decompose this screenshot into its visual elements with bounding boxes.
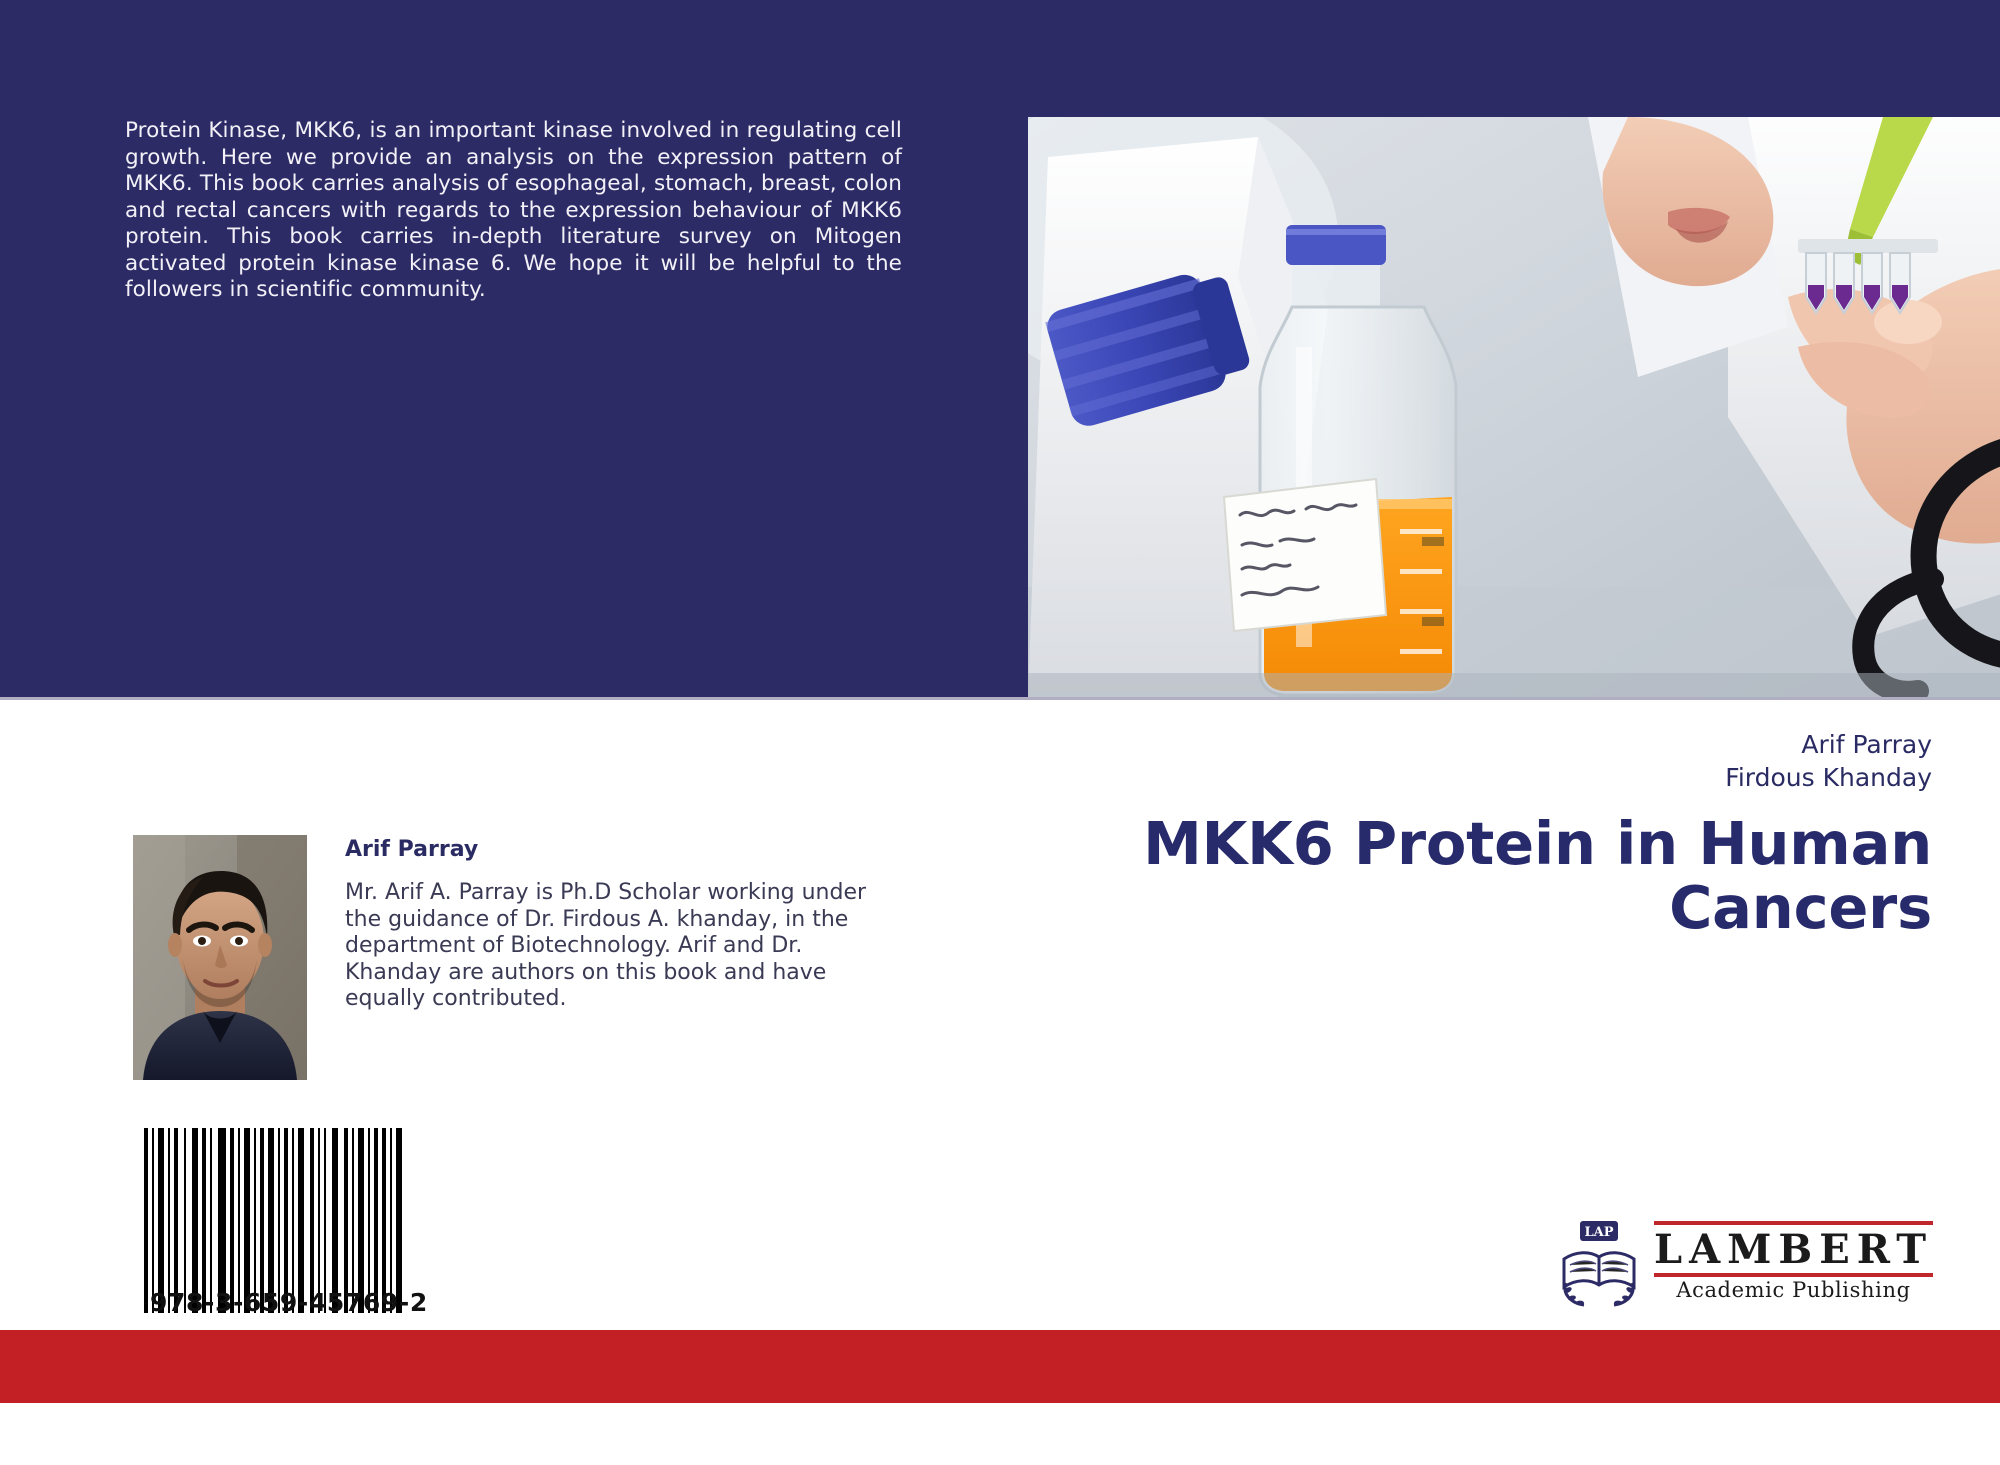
publisher-name: LAMBERT bbox=[1654, 1225, 1933, 1273]
back-cover-blurb: Protein Kinase, MKK6, is an important ki… bbox=[125, 118, 902, 304]
publisher-name-block: LAMBERT Academic Publishing bbox=[1654, 1221, 1933, 1305]
author-bio-text: Mr. Arif A. Parray is Ph.D Scholar worki… bbox=[345, 880, 900, 1013]
isbn-barcode bbox=[140, 1128, 410, 1228]
book-cover: Protein Kinase, MKK6, is an important ki… bbox=[0, 0, 2000, 1465]
publisher-tagline: Academic Publishing bbox=[1654, 1277, 1933, 1305]
lap-book-icon: LAP bbox=[1558, 1219, 1640, 1307]
publisher-logo: LAP bbox=[1558, 1215, 1933, 1311]
book-title: MKK6 Protein in Human Cancers bbox=[872, 812, 1932, 940]
author-bio-name: Arif Parray bbox=[345, 837, 945, 863]
bottom-white-strip bbox=[0, 1403, 2000, 1465]
front-author-2: Firdous Khanday bbox=[1032, 761, 1932, 794]
front-author-1: Arif Parray bbox=[1032, 728, 1932, 761]
author-portrait bbox=[133, 835, 307, 1080]
bottom-red-band bbox=[0, 1330, 2000, 1403]
band-divider bbox=[0, 697, 2000, 700]
front-cover-authors: Arif Parray Firdous Khanday bbox=[1032, 728, 1932, 794]
lab-photo bbox=[1028, 117, 2000, 697]
svg-text:LAP: LAP bbox=[1584, 1225, 1613, 1240]
isbn-number: 978-3-659-45769-2 bbox=[150, 1288, 428, 1317]
